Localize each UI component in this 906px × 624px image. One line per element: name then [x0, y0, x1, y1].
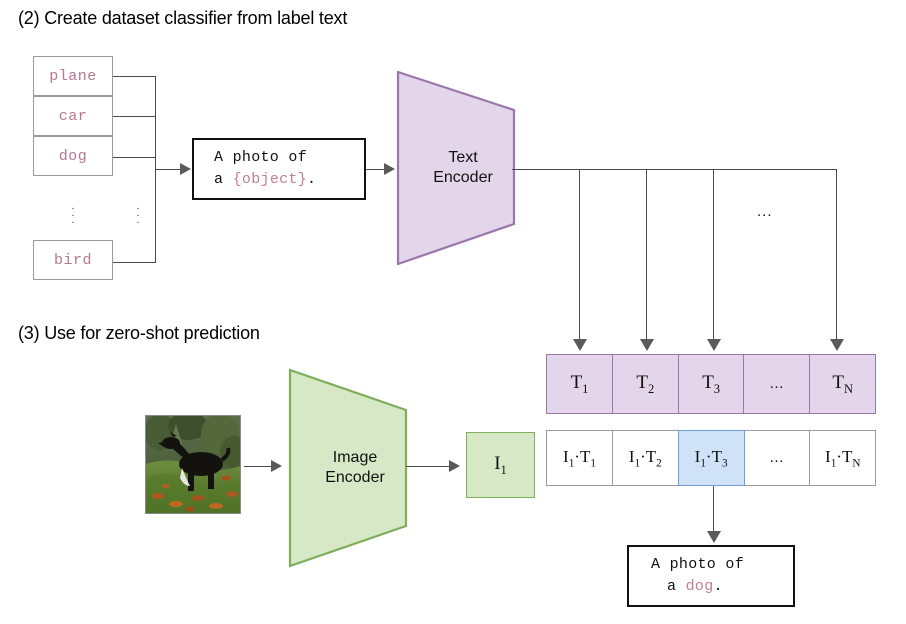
similarity-cell-n-label: I1·TN — [825, 447, 860, 469]
similarity-cell-1[interactable]: I1·T1 — [546, 430, 613, 486]
text-feature-row: T1 T2 T3 ... TN — [546, 354, 876, 414]
text-feature-cell-1[interactable]: T1 — [546, 354, 613, 414]
connector-image-encoder-to-i1 — [406, 466, 450, 467]
connector-bird-stub — [113, 262, 156, 263]
text-feature-cell-3[interactable]: T3 — [678, 354, 745, 414]
vertical-ellipsis-bracket: ... — [136, 203, 140, 224]
drop-line-t1 — [579, 169, 580, 339]
vertical-ellipsis-labels: ... — [71, 203, 75, 224]
text-encoder-label-line2: Encoder — [396, 168, 530, 188]
text-feature-cell-2[interactable]: T2 — [612, 354, 679, 414]
t2-label: T2 — [636, 372, 654, 397]
label-box-dog[interactable]: dog — [33, 136, 113, 176]
similarity-cell-2[interactable]: I1·T2 — [612, 430, 679, 486]
similarity-cell-2-label: I1·T2 — [629, 447, 662, 469]
arrow-to-image-encoder — [271, 460, 282, 472]
connector-selected-to-output — [713, 486, 714, 532]
similarity-ellipsis: ... — [770, 450, 784, 467]
image-encoder-label-line2: Encoder — [288, 468, 422, 488]
input-photo[interactable] — [145, 415, 241, 514]
arrow-to-i1 — [449, 460, 460, 472]
prompt-template-suffix: . — [307, 171, 316, 188]
image-encoder[interactable]: Image Encoder — [288, 368, 422, 568]
text-feature-cell-ellipsis: ... — [743, 354, 810, 414]
t3-label: T3 — [702, 372, 720, 397]
prompt-template-slot: {object} — [233, 171, 307, 188]
arrow-to-t1 — [573, 339, 587, 351]
step-3-heading: (3) Use for zero-shot prediction — [18, 323, 260, 344]
t-ellipsis: ... — [770, 376, 784, 393]
connector-car-stub — [113, 116, 156, 117]
clip-zero-shot-diagram: (2) Create dataset classifier from label… — [0, 0, 906, 624]
t1-label: T1 — [571, 372, 589, 397]
similarity-cell-ellipsis: ... — [743, 430, 810, 486]
connector-prompt-to-text-encoder — [366, 169, 385, 170]
prediction-slot: dog — [686, 578, 714, 595]
text-feature-cell-n[interactable]: TN — [809, 354, 876, 414]
arrow-to-output-box — [707, 531, 721, 543]
dog-photo-image — [146, 416, 240, 513]
similarity-cell-3-label: I1·T3 — [695, 447, 728, 469]
connector-plane-stub — [113, 76, 156, 77]
step-2-heading: (2) Create dataset classifier from label… — [18, 8, 347, 29]
arrow-to-prompt-box — [180, 163, 191, 175]
similarity-row: I1·T1 I1·T2 I1·T3 ... I1·TN — [546, 430, 876, 486]
label-box-car[interactable]: car — [33, 96, 113, 136]
prediction-prefix: a — [667, 578, 686, 595]
arrow-to-text-encoder — [384, 163, 395, 175]
bus-ellipsis: ... — [757, 203, 773, 220]
image-encoder-label-line1: Image — [288, 448, 422, 468]
similarity-cell-3-selected[interactable]: I1·T3 — [678, 430, 745, 486]
arrow-to-t3 — [707, 339, 721, 351]
prompt-template-line1: A photo of — [214, 147, 364, 169]
prompt-template-box[interactable]: A photo of a {object}. — [192, 138, 366, 200]
label-box-bird[interactable]: bird — [33, 240, 113, 280]
tn-label: TN — [832, 372, 853, 397]
text-feature-bus-line — [512, 169, 837, 170]
prediction-output-box[interactable]: A photo of a dog. — [627, 545, 795, 607]
text-encoder[interactable]: Text Encoder — [396, 70, 530, 266]
prediction-suffix: . — [714, 578, 723, 595]
similarity-cell-n[interactable]: I1·TN — [809, 430, 876, 486]
image-encoder-label: Image Encoder — [288, 448, 422, 488]
prompt-template-line2: a {object}. — [214, 169, 364, 191]
label-box-plane[interactable]: plane — [33, 56, 113, 96]
connector-dog-stub — [113, 157, 156, 158]
image-feature-box[interactable]: I1 — [466, 432, 535, 498]
arrow-to-tn — [830, 339, 844, 351]
connector-photo-to-image-encoder — [244, 466, 272, 467]
prediction-line1: A photo of — [651, 554, 793, 576]
text-encoder-label: Text Encoder — [396, 148, 530, 188]
similarity-cell-1-label: I1·T1 — [563, 447, 596, 469]
drop-line-t2 — [646, 169, 647, 339]
prompt-template-prefix: a — [214, 171, 233, 188]
prediction-line2: a dog. — [651, 576, 793, 598]
text-encoder-label-line1: Text — [396, 148, 530, 168]
arrow-to-t2 — [640, 339, 654, 351]
connector-bracket-to-prompt — [155, 169, 181, 170]
drop-line-t3 — [713, 169, 714, 339]
i1-label: I1 — [494, 453, 507, 478]
drop-line-tn — [836, 169, 837, 339]
